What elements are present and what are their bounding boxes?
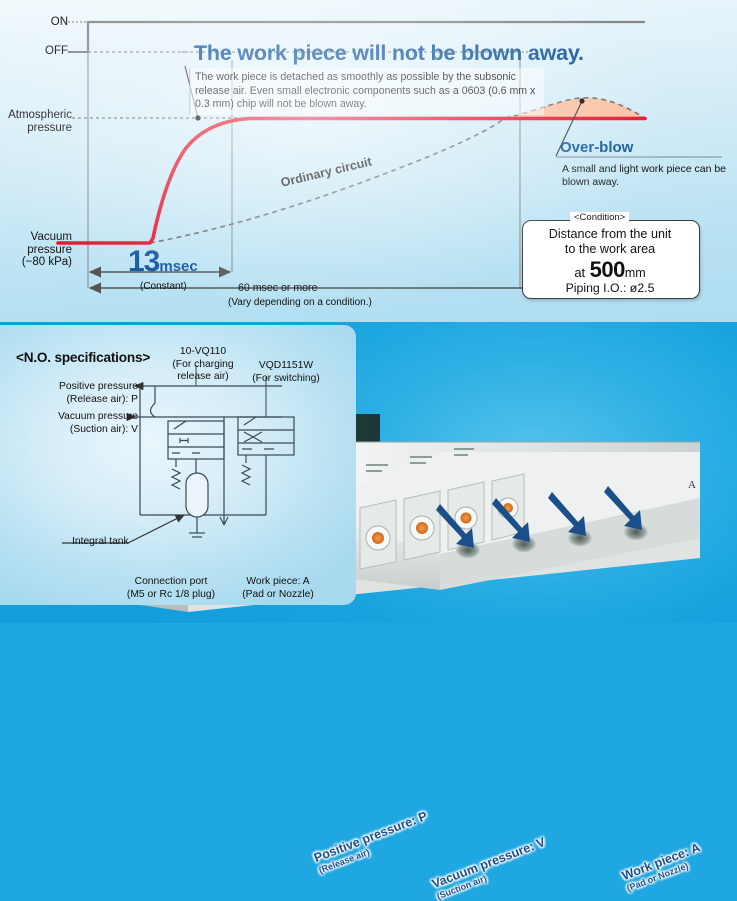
workpiece-line2: (Pad or Nozzle) bbox=[242, 589, 314, 600]
pressure-chart-panel: ON OFF Atmospheric pressure Vacuum press… bbox=[0, 0, 737, 322]
timing-long: 60 msec or more bbox=[238, 282, 317, 294]
callout-positive-pressure: Positive pressure: P (Release air) bbox=[312, 809, 433, 875]
axis-label-vacuum: Vacuum pressure (−80 kPa) bbox=[0, 231, 72, 269]
vacuum-line1: Vacuum bbox=[31, 231, 72, 243]
condition-line2: to the work area bbox=[565, 242, 655, 256]
axis-label-on: ON bbox=[22, 16, 68, 29]
schematic-title: <N.O. specifications> bbox=[16, 352, 150, 365]
timing-value: 13 bbox=[128, 245, 159, 278]
axis-label-off: OFF bbox=[22, 45, 68, 58]
valve2-name: VQD1151W (For switching) bbox=[240, 360, 332, 385]
condition-distance: at 500mm bbox=[522, 257, 698, 283]
callout-vacuum-pressure: Vacuum pressure: V (Suction air) bbox=[430, 835, 551, 901]
valve1-name: 10-VQ110 (For charging release air) bbox=[160, 346, 246, 384]
port-v-line2: (Suction air): V bbox=[70, 424, 138, 435]
port-p-line1: Positive pressure bbox=[59, 381, 138, 392]
valve2-cross-symbol bbox=[244, 432, 262, 442]
valve2-spring bbox=[242, 455, 250, 485]
workpiece-label: Work piece: A (Pad or Nozzle) bbox=[230, 575, 326, 601]
timing-unit: msec bbox=[159, 258, 197, 275]
chart-description: The work piece is detached as smoothly a… bbox=[190, 68, 544, 115]
workpiece-line1: Work piece: A bbox=[246, 576, 309, 587]
marking-a-label: A bbox=[688, 479, 696, 491]
valve2-actuator-line bbox=[244, 417, 256, 425]
valve1-note: (For charging release air) bbox=[172, 359, 233, 383]
timing-long-note: (Vary depending on a condition.) bbox=[228, 297, 372, 308]
valve1-actuator-line bbox=[174, 421, 186, 429]
description-leader-dot bbox=[195, 115, 200, 120]
port-v-label: Vacuum pressure (Suction air): V bbox=[20, 411, 138, 436]
connection-port-label: Connection port (M5 or Rc 1/8 plug) bbox=[118, 575, 224, 601]
chart-headline: The work piece will not be blown away. bbox=[194, 41, 584, 66]
atmospheric-line1: Atmospheric bbox=[8, 109, 72, 121]
vacuum-line2: pressure bbox=[27, 244, 72, 256]
overblow-leader-dot bbox=[579, 98, 584, 103]
timing-13msec: 13msec bbox=[128, 245, 198, 279]
line-crossover bbox=[151, 386, 156, 417]
atmospheric-line2: pressure bbox=[27, 122, 72, 134]
condition-piping: Piping I.O.: ø2.5 bbox=[522, 281, 698, 295]
valve1-symbol bbox=[180, 438, 188, 443]
connection-line1: Connection port bbox=[135, 576, 208, 587]
tank-leader-arrow bbox=[128, 515, 184, 543]
valve2-model: VQD1151W bbox=[259, 360, 313, 371]
condition-distance-unit: mm bbox=[625, 266, 646, 280]
axis-label-atmospheric: Atmospheric pressure bbox=[0, 109, 72, 134]
condition-distance-value: 500 bbox=[590, 257, 625, 282]
port-p-line2: (Release air): P bbox=[66, 394, 138, 405]
condition-text: Distance from the unit to the work area bbox=[522, 227, 698, 257]
valve1-model: 10-VQ110 bbox=[180, 346, 226, 357]
valve1-spring bbox=[172, 459, 180, 489]
overblow-description: A small and light work piece can be blow… bbox=[562, 163, 734, 189]
condition-line1: Distance from the unit bbox=[549, 227, 672, 241]
integral-tank-body bbox=[186, 473, 208, 517]
port-v-line1: Vacuum pressure bbox=[58, 411, 138, 422]
callout-work-piece: Work piece: A (Pad or Nozzle) bbox=[620, 840, 706, 893]
valve2-note: (For switching) bbox=[252, 373, 320, 384]
overblow-title: Over-blow bbox=[560, 139, 633, 156]
condition-tag: <Condition> bbox=[570, 212, 629, 223]
condition-at: at bbox=[574, 265, 585, 280]
timing-constant-note: (Constant) bbox=[140, 281, 187, 292]
integral-tank-label: Integral tank bbox=[72, 536, 129, 549]
port-p-label: Positive pressure (Release air): P bbox=[20, 381, 138, 406]
vacuum-line3: (−80 kPa) bbox=[22, 256, 72, 268]
connection-line2: (M5 or Rc 1/8 plug) bbox=[127, 589, 215, 600]
